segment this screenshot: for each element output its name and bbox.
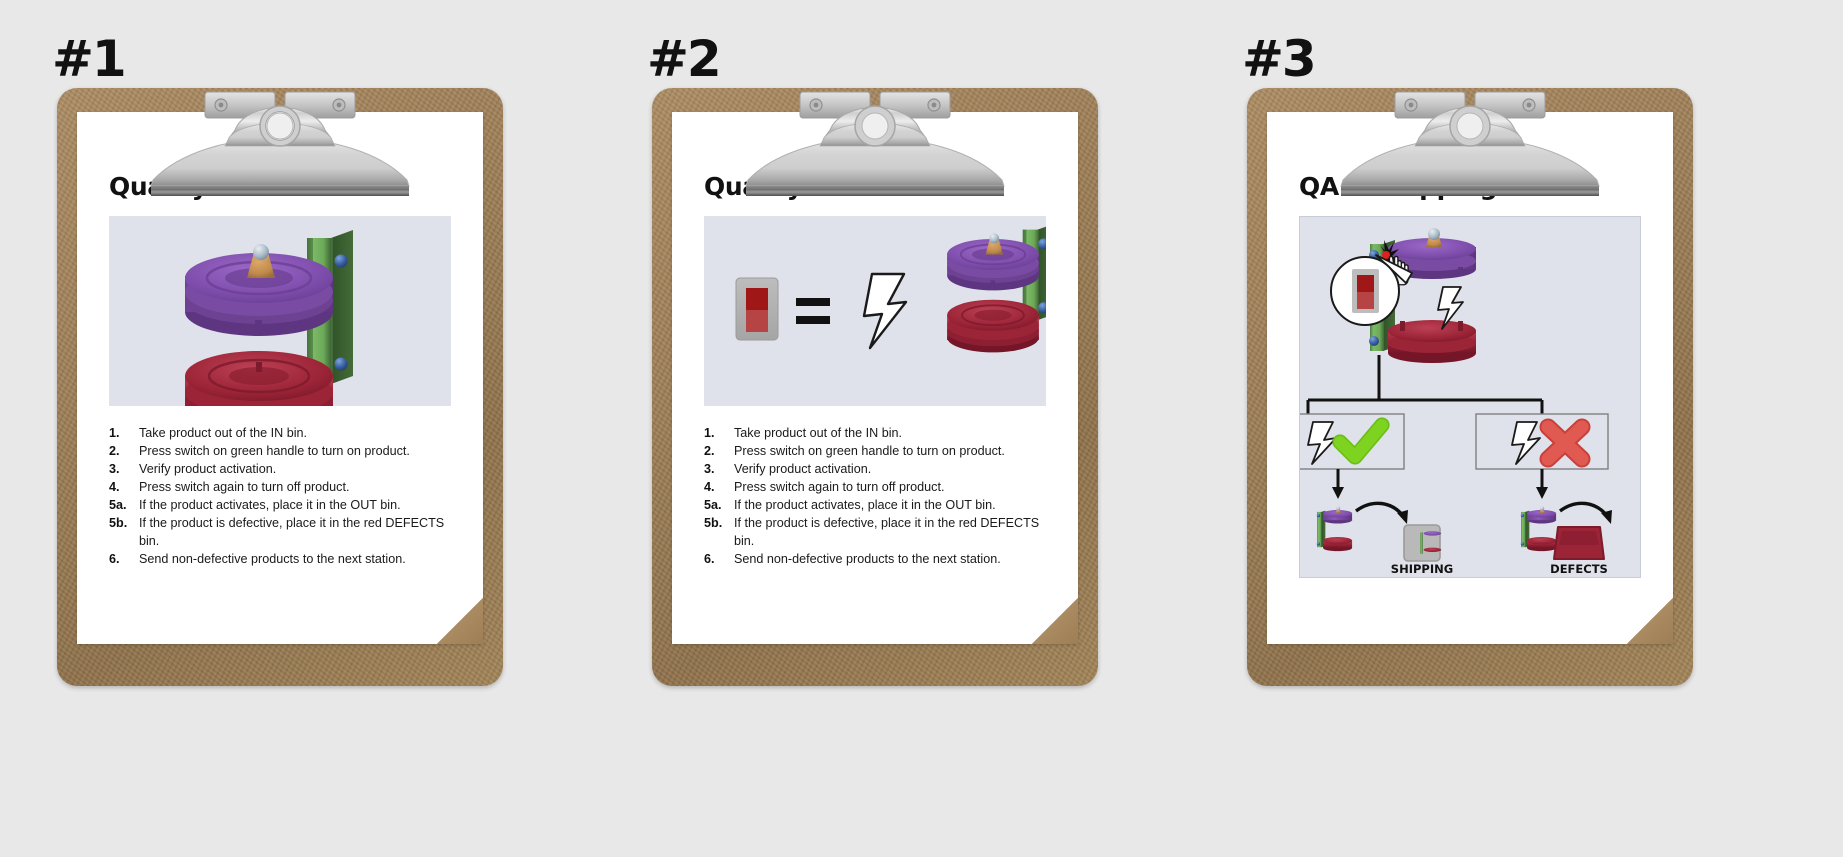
x-mark-icon (1548, 427, 1582, 459)
step-number: 6. (109, 550, 139, 568)
step-number: 5b. (704, 514, 734, 550)
list-item: 5b.If the product is defective, place it… (109, 514, 459, 550)
list-item: 5a.If the product activates, place it in… (109, 496, 459, 514)
shipping-outcome: SHIPPING (1317, 503, 1453, 576)
qa-shipping-flowchart: SHIPPING (1299, 216, 1641, 578)
step-text: Press switch again to turn off product. (734, 478, 1054, 496)
clipboards-row: #1 Quality Assurance (0, 0, 1843, 857)
paper-sheet-2: Quality Assurance (672, 112, 1078, 644)
panel-number-3: #3 (1242, 30, 1315, 88)
list-item: 6.Send non-defective products to the nex… (109, 550, 459, 568)
flow-branch-lines (1308, 355, 1542, 414)
product-illustration-small (947, 225, 1046, 353)
rivet-right-icon (1523, 99, 1535, 111)
document-title-3: QA + Shipping (1299, 172, 1497, 201)
list-item: 5b.If the product is defective, place it… (704, 514, 1054, 550)
defects-bin-icon (1554, 527, 1604, 559)
switch-icon (1352, 269, 1379, 313)
blue-screw-bottom (1369, 336, 1379, 346)
step-number: 2. (704, 442, 734, 460)
rivet-left-icon (1405, 99, 1417, 111)
step-number: 3. (109, 460, 139, 478)
rivet-left-icon (810, 99, 822, 111)
clipboard-panel-3: #3 QA + Shipping (1190, 0, 1785, 857)
panel-number-2: #2 (647, 30, 720, 88)
rivet-right-icon (928, 99, 940, 111)
step-text: Press switch on green handle to turn on … (139, 442, 459, 460)
list-item: 5a.If the product activates, place it in… (704, 496, 1054, 514)
switch-equation-figure (704, 216, 1046, 406)
page-fold-corner (1032, 598, 1078, 644)
step-text: Send non-defective products to the next … (734, 550, 1054, 568)
step-text: If the product activates, place it in th… (139, 496, 459, 514)
list-item: 4.Press switch again to turn off product… (704, 478, 1054, 496)
step-text: If the product activates, place it in th… (734, 496, 1054, 514)
list-item: 2.Press switch on green handle to turn o… (704, 442, 1054, 460)
step-text: Take product out of the IN bin. (139, 424, 459, 442)
step-number: 1. (109, 424, 139, 442)
step-text: Verify product activation. (734, 460, 1054, 478)
red-disc (947, 300, 1039, 353)
document-title-2: Quality Assurance (704, 172, 953, 201)
step-text: If the product is defective, place it in… (139, 514, 459, 550)
red-disc (185, 351, 333, 406)
step-text: Send non-defective products to the next … (139, 550, 459, 568)
rivet-right-icon (333, 99, 345, 111)
shipping-box-icon (1404, 525, 1441, 561)
blue-screw-bottom (335, 358, 348, 371)
list-item: 1.Take product out of the IN bin. (704, 424, 1054, 442)
product-illustration (109, 216, 451, 406)
step-number: 5b. (109, 514, 139, 550)
lightning-bolt-icon (864, 274, 906, 348)
defects-outcome: DEFECTS (1521, 503, 1612, 576)
clipboard-board-1: Quality Assurance (57, 88, 503, 686)
step-text: Press switch on green handle to turn on … (734, 442, 1054, 460)
list-item: 3.Verify product activation. (109, 460, 459, 478)
page-fold-corner (437, 598, 483, 644)
fail-result-box (1476, 414, 1608, 469)
step-number: 2. (109, 442, 139, 460)
clipboard-board-3: QA + Shipping (1247, 88, 1693, 686)
document-title-1: Quality Assurance (109, 172, 358, 201)
clipboard-board-2: Quality Assurance (652, 88, 1098, 686)
step-number: 5a. (109, 496, 139, 514)
step-text: Take product out of the IN bin. (734, 424, 1054, 442)
step-text: Verify product activation. (139, 460, 459, 478)
pass-result-box (1300, 414, 1404, 469)
clipboard-panel-2: #2 Quality Assurance (595, 0, 1190, 857)
step-number: 4. (704, 478, 734, 496)
steps-list-2: 1.Take product out of the IN bin. 2.Pres… (704, 424, 1054, 568)
list-item: 6.Send non-defective products to the nex… (704, 550, 1054, 568)
list-item: 4.Press switch again to turn off product… (109, 478, 459, 496)
steps-list-1: 1.Take product out of the IN bin. 2.Pres… (109, 424, 459, 568)
list-item: 3.Verify product activation. (704, 460, 1054, 478)
list-item: 2.Press switch on green handle to turn o… (109, 442, 459, 460)
step-number: 4. (109, 478, 139, 496)
rivet-left-icon (215, 99, 227, 111)
equals-sign (796, 298, 830, 324)
step-text: Press switch again to turn off product. (139, 478, 459, 496)
step-text: If the product is defective, place it in… (734, 514, 1054, 550)
arrow-to-defects (1536, 469, 1548, 499)
paper-sheet-1: Quality Assurance (77, 112, 483, 644)
defects-label: DEFECTS (1550, 562, 1608, 576)
product-figure-1 (109, 216, 451, 406)
step-number: 5a. (704, 496, 734, 514)
shipping-label: SHIPPING (1391, 562, 1453, 576)
arrow-to-shipping (1332, 469, 1344, 499)
paper-sheet-3: QA + Shipping (1267, 112, 1673, 644)
panel-number-1: #1 (52, 30, 125, 88)
list-item: 1.Take product out of the IN bin. (109, 424, 459, 442)
clipboard-panel-1: #1 Quality Assurance (0, 0, 595, 857)
step-number: 1. (704, 424, 734, 442)
page-fold-corner (1627, 598, 1673, 644)
step-number: 3. (704, 460, 734, 478)
switch-icon (736, 278, 778, 340)
step-number: 6. (704, 550, 734, 568)
blue-screw-top (335, 255, 348, 268)
